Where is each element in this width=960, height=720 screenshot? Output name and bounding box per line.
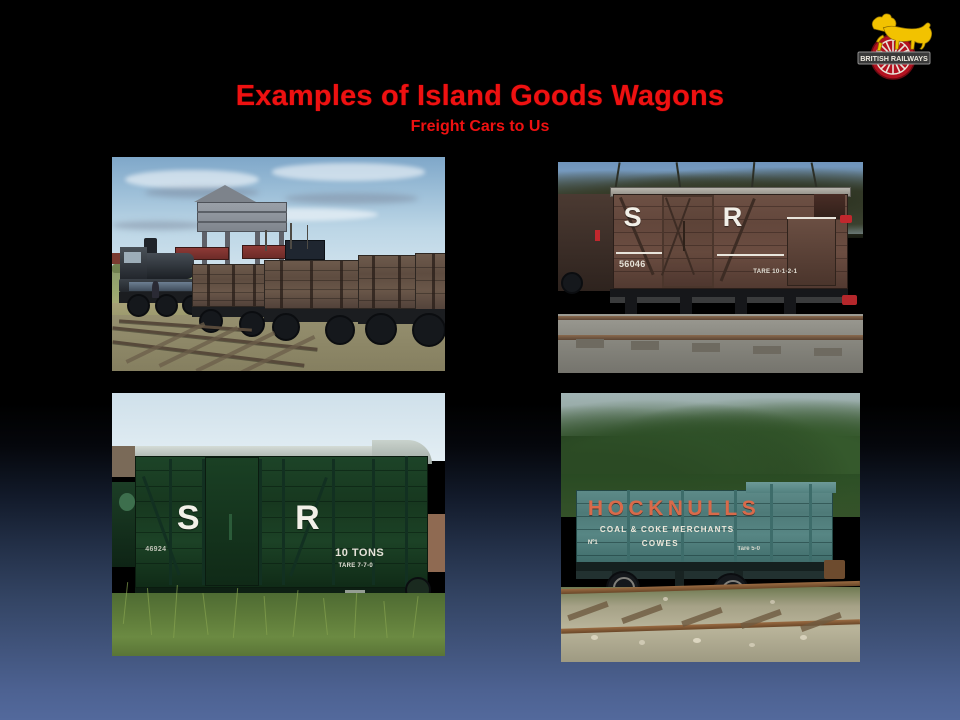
photo-hocknulls-open-wagon: HOCKNULLS COAL & COKE MERCHANTS COWES Nº… xyxy=(561,393,860,662)
grass xyxy=(112,593,445,656)
slide-subtitle: Freight Cars to Us xyxy=(0,118,960,136)
wagon-owner-name: HOCKNULLS xyxy=(588,498,760,519)
van-letter-r: R xyxy=(723,204,743,231)
wagon-trade-text: COAL & COKE MERCHANTS xyxy=(600,526,734,534)
presentation-slide: BRITISH RAILWAYS Examples of Island Good… xyxy=(0,0,960,720)
slide-title: Examples of Island Goods Wagons xyxy=(0,80,960,113)
van-capacity: 10 TONS xyxy=(335,547,384,559)
photo-brown-sr-box-van: S R 56046 TARE 10-1-2-1 56046 xyxy=(558,162,863,373)
van-letter-s: S xyxy=(177,501,200,535)
rail xyxy=(558,316,863,320)
rail xyxy=(558,335,863,340)
van-number: 56046 xyxy=(619,259,646,269)
wagon-number: Nº1 xyxy=(588,540,598,546)
van-number: 46924 xyxy=(145,546,166,553)
van-tare: TARE 10-1-2-1 xyxy=(753,269,797,275)
van-letter-s: S xyxy=(624,204,642,231)
photo-green-sr-box-van: S R 46924 10 TONS TARE 7-7-0 xyxy=(112,393,445,656)
figure-beside-track xyxy=(152,281,159,298)
logo-banner: BRITISH RAILWAYS xyxy=(858,52,930,64)
wagon-tare: Tare 5-0 xyxy=(737,546,760,552)
british-railways-logo: BRITISH RAILWAYS xyxy=(838,2,948,84)
logo-banner-text: BRITISH RAILWAYS xyxy=(860,54,928,63)
open-goods-wagon-3 xyxy=(358,255,418,309)
open-goods-wagon-1 xyxy=(192,264,265,307)
van-door xyxy=(205,457,258,586)
photo-painting-loco-and-open-wagons xyxy=(112,157,445,371)
wagon-place-text: COWES xyxy=(642,540,679,548)
open-goods-wagon-2 xyxy=(264,260,361,309)
van-letter-r: R xyxy=(295,501,320,535)
open-goods-wagon-4 xyxy=(415,253,445,311)
van-tare: TARE 7-7-0 xyxy=(338,563,373,569)
